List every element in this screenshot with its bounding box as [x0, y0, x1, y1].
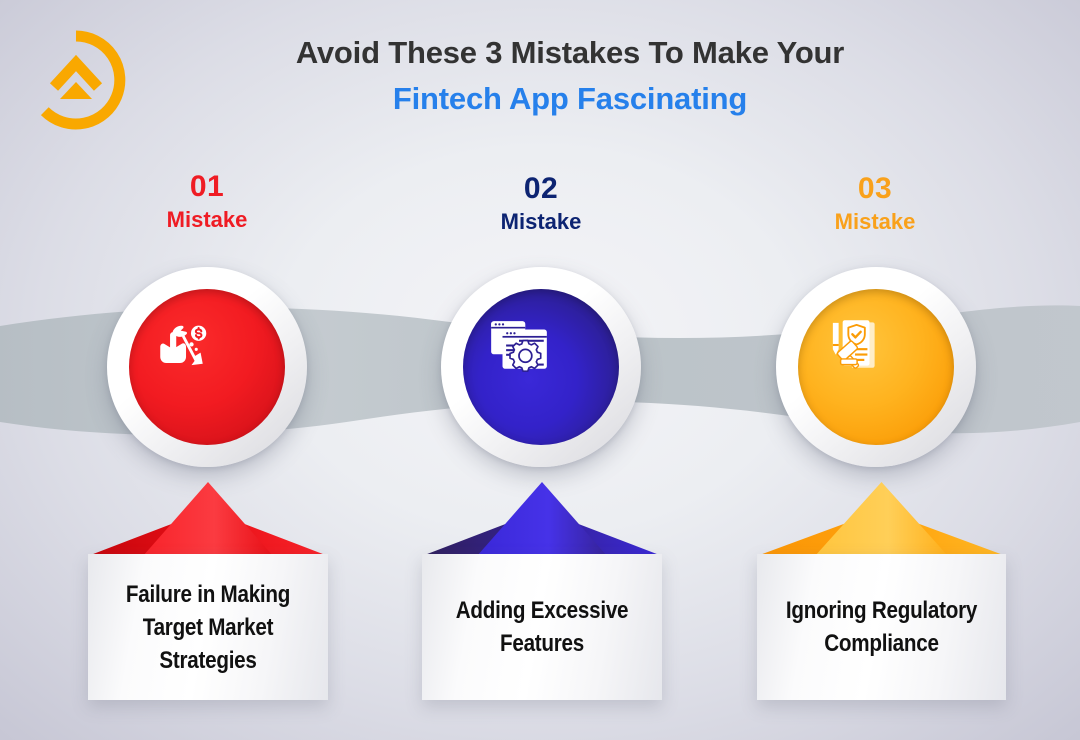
mistake-text-01: Failure in Making Target Market Strategi… — [105, 578, 311, 677]
document-shield-gavel-icon — [821, 312, 887, 378]
mistake-number-02: 02 — [411, 172, 671, 206]
mistake-icon-circle-02 — [441, 267, 641, 467]
mistake-text-box-01: Failure in Making Target Market Strategi… — [88, 554, 328, 700]
mistake-text-box-03: Ignoring Regulatory Compliance — [757, 554, 1006, 700]
infographic-canvas: Avoid These 3 Mistakes To Make Your Fint… — [0, 0, 1080, 740]
title-line-1: Avoid These 3 Mistakes To Make Your — [160, 32, 980, 74]
roof-shape-01 — [88, 482, 328, 556]
mistake-label-01: Mistake — [77, 206, 337, 234]
mistake-text-box-02: Adding Excessive Features — [422, 554, 662, 700]
roof-shape-03 — [757, 482, 1006, 556]
roof-shape-02 — [422, 482, 662, 556]
mistake-icon-circle-01 — [107, 267, 307, 467]
mistake-card-02: Adding Excessive Features — [422, 482, 662, 700]
mistake-label-02: Mistake — [411, 208, 671, 236]
mistake-number-01: 01 — [77, 170, 337, 204]
mistake-text-02: Adding Excessive Features — [439, 594, 645, 660]
page-title: Avoid These 3 Mistakes To Make Your Fint… — [160, 32, 980, 120]
mistake-label-03: Mistake — [745, 208, 1005, 236]
mistake-header-01: 01 Mistake — [77, 170, 337, 234]
title-line-2: Fintech App Fascinating — [160, 78, 980, 120]
arrow-circle-logo-icon — [22, 26, 130, 134]
mistake-icon-circle-03 — [776, 267, 976, 467]
browser-windows-gear-icon — [486, 312, 552, 378]
mistake-text-03: Ignoring Regulatory Compliance — [774, 594, 988, 660]
mistake-header-03: 03 Mistake — [745, 172, 1005, 236]
hands-with-down-arrow-icon — [152, 312, 218, 378]
mistake-header-02: 02 Mistake — [411, 172, 671, 236]
mistake-number-03: 03 — [745, 172, 1005, 206]
mistake-card-03: Ignoring Regulatory Compliance — [757, 482, 1006, 700]
mistake-card-01: Failure in Making Target Market Strategi… — [88, 482, 328, 700]
